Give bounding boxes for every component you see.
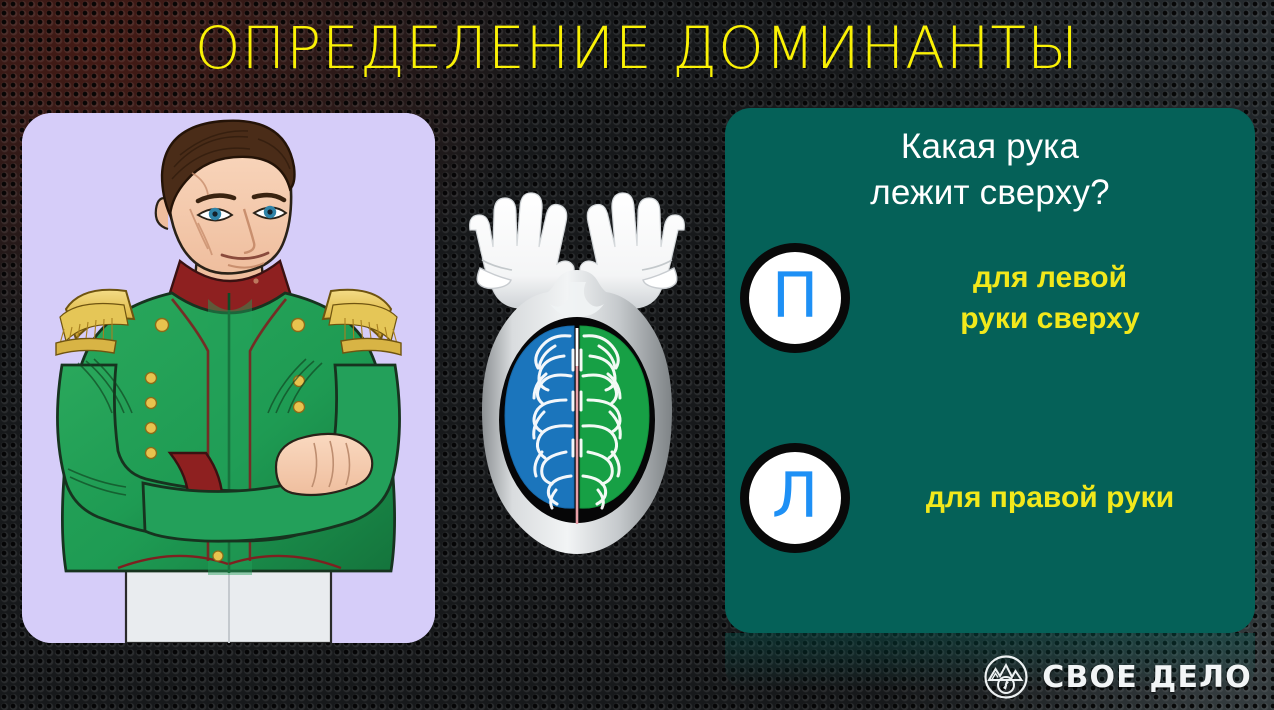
badge-p[interactable]: П <box>740 243 850 353</box>
badge-l[interactable]: Л <box>740 443 850 553</box>
napoleon-card-reflection <box>22 643 435 709</box>
answer-p-line-1: для левой <box>860 257 1240 298</box>
brand-logo: СВОЕ ДЕЛО <box>983 654 1252 700</box>
answer-option-l[interactable]: Л для правой руки <box>740 443 1240 553</box>
badge-l-letter: Л <box>772 465 819 527</box>
brain-and-hands-graphic <box>452 160 702 560</box>
answer-option-l-text: для правой руки <box>850 477 1240 518</box>
question-line-2: лежит сверху? <box>725 170 1255 216</box>
napoleon-illustration <box>22 113 435 643</box>
answer-p-line-2: руки сверху <box>860 298 1240 339</box>
question-line-1: Какая рука <box>725 124 1255 170</box>
question-panel: Какая рука лежит сверху? П для левой рук… <box>725 108 1255 633</box>
badge-p-letter: П <box>772 265 819 327</box>
answer-option-p-text: для левой руки сверху <box>850 257 1240 340</box>
page-title: ОПРЕДЕЛЕНИЕ ДОМИНАНТЫ <box>0 18 1274 78</box>
answer-l-line-1: для правой руки <box>860 477 1240 518</box>
question-text: Какая рука лежит сверху? <box>725 124 1255 215</box>
mountain-compass-circle-icon <box>983 654 1029 700</box>
brand-name: СВОЕ ДЕЛО <box>1042 660 1252 695</box>
napoleon-illustration-card <box>22 113 435 643</box>
slide-root: ОПРЕДЕЛЕНИЕ ДОМИНАНТЫ <box>0 0 1274 710</box>
answer-option-p[interactable]: П для левой руки сверху <box>740 243 1240 353</box>
